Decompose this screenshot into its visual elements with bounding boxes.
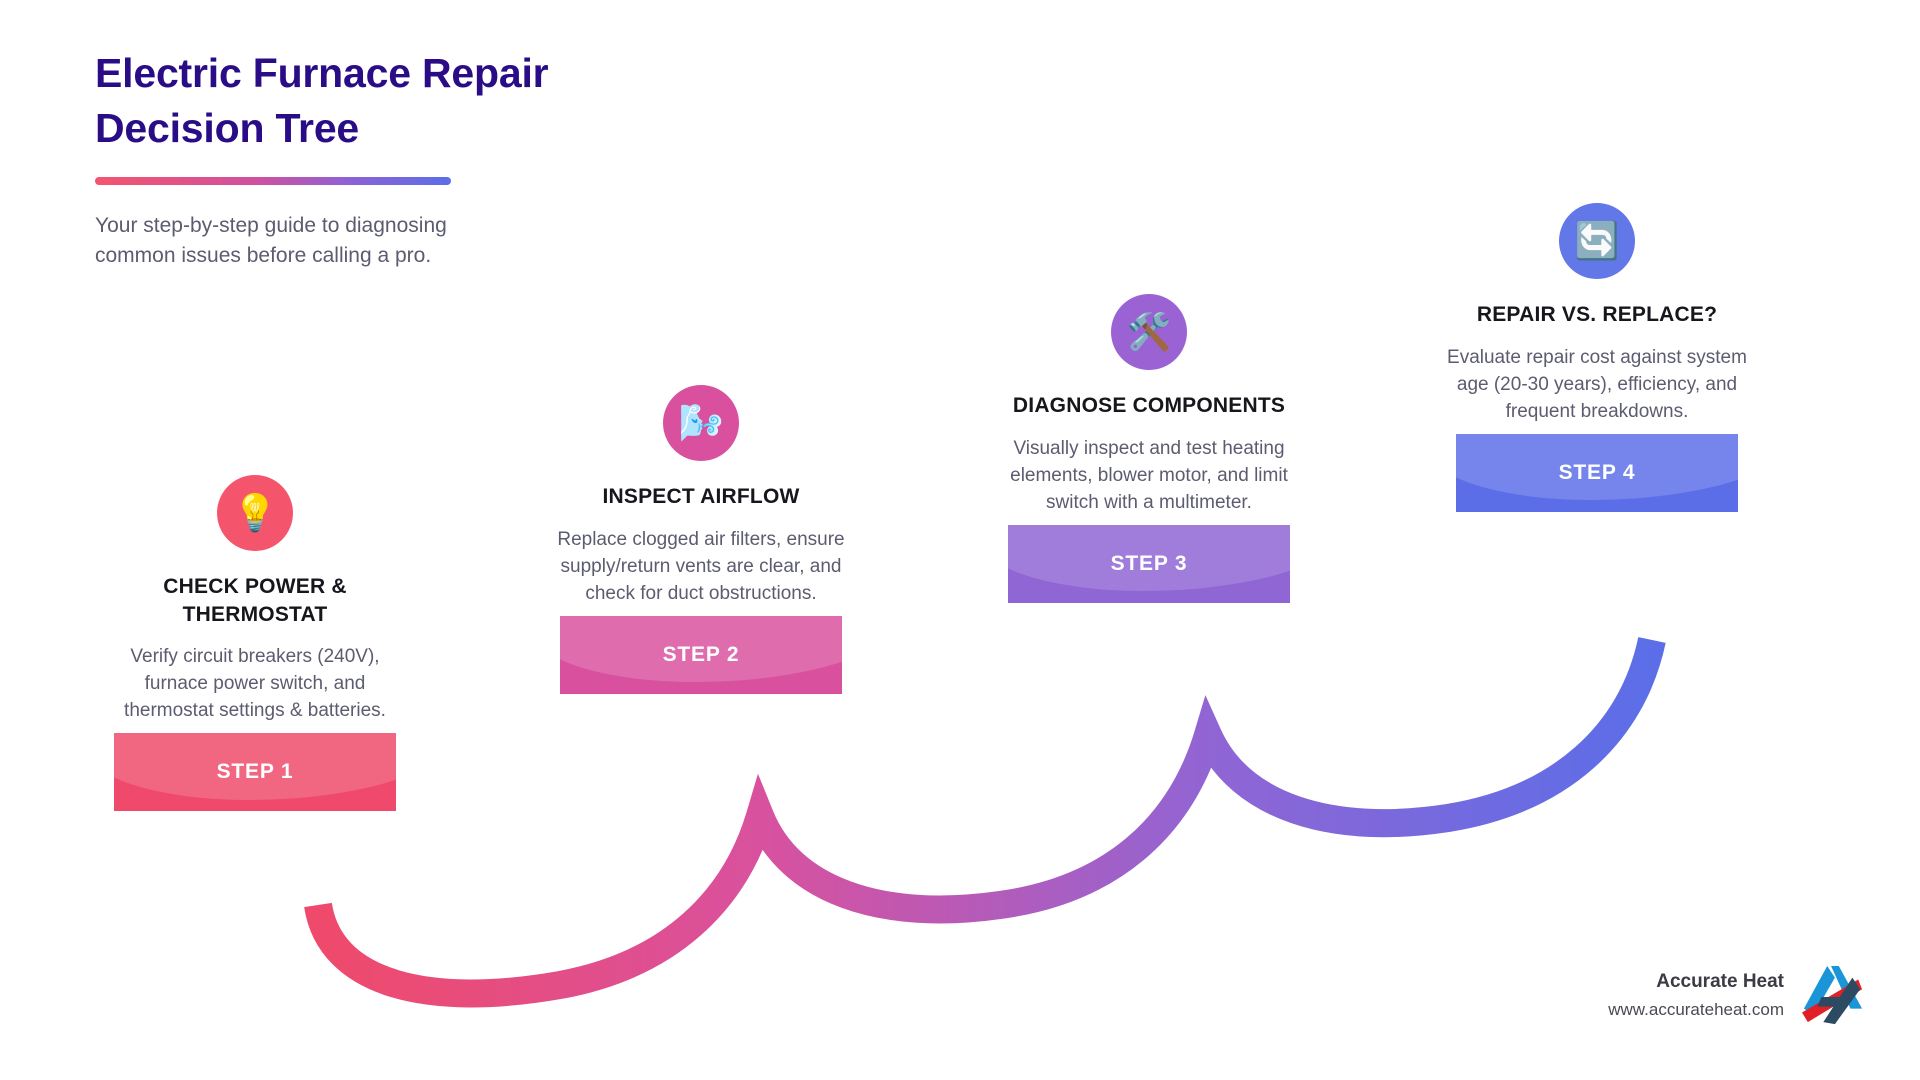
step-card-2[interactable]: 🌬️ INSPECT AIRFLOW Replace clogged air f… xyxy=(536,385,866,694)
hammer-and-wrench-icon: 🛠️ xyxy=(1127,314,1172,350)
header-block: Electric Furnace Repair Decision Tree Yo… xyxy=(95,46,715,271)
accurate-heat-logo xyxy=(1802,964,1864,1026)
step-3-heading: DIAGNOSE COMPONENTS xyxy=(984,392,1314,420)
step-2-heading: INSPECT AIRFLOW xyxy=(536,483,866,511)
wind-face-icon: 🌬️ xyxy=(679,405,724,441)
step-4-banner-label: STEP 4 xyxy=(1559,461,1636,485)
step-1-banner-label: STEP 1 xyxy=(217,760,294,784)
step-2-icon-circle: 🌬️ xyxy=(663,385,739,461)
page-title: Electric Furnace Repair Decision Tree xyxy=(95,46,715,155)
footer-website-url[interactable]: www.accurateheat.com xyxy=(1608,997,1784,1023)
step-4-body: Evaluate repair cost against system age … xyxy=(1432,345,1762,426)
step-card-3[interactable]: 🛠️ DIAGNOSE COMPONENTS Visually inspect … xyxy=(984,294,1314,603)
step-4-banner[interactable]: STEP 4 xyxy=(1456,434,1738,512)
step-2-banner-label: STEP 2 xyxy=(663,643,740,667)
step-3-icon-circle: 🛠️ xyxy=(1111,294,1187,370)
step-3-body: Visually inspect and test heating elemen… xyxy=(984,436,1314,517)
step-1-heading: CHECK POWER & THERMOSTAT xyxy=(90,573,420,628)
footer: Accurate Heat www.accurateheat.com xyxy=(1608,964,1864,1026)
step-3-banner[interactable]: STEP 3 xyxy=(1008,525,1290,603)
step-2-banner[interactable]: STEP 2 xyxy=(560,616,842,694)
step-1-icon-circle: 💡 xyxy=(217,475,293,551)
lightbulb-icon: 💡 xyxy=(233,495,278,531)
title-gradient-rule xyxy=(95,177,451,185)
footer-brand-name: Accurate Heat xyxy=(1608,968,1784,997)
step-1-banner[interactable]: STEP 1 xyxy=(114,733,396,811)
page-subtitle: Your step-by-step guide to diagnosing co… xyxy=(95,211,565,271)
refresh-arrows-icon: 🔄 xyxy=(1575,223,1620,259)
step-4-heading: REPAIR VS. REPLACE? xyxy=(1432,301,1762,329)
step-card-4[interactable]: 🔄 REPAIR VS. REPLACE? Evaluate repair co… xyxy=(1432,203,1762,512)
step-1-body: Verify circuit breakers (240V), furnace … xyxy=(90,644,420,725)
footer-text-block: Accurate Heat www.accurateheat.com xyxy=(1608,968,1784,1022)
step-4-icon-circle: 🔄 xyxy=(1559,203,1635,279)
step-3-banner-label: STEP 3 xyxy=(1111,552,1188,576)
step-card-1[interactable]: 💡 CHECK POWER & THERMOSTAT Verify circui… xyxy=(90,475,420,811)
step-2-body: Replace clogged air filters, ensure supp… xyxy=(536,527,866,608)
